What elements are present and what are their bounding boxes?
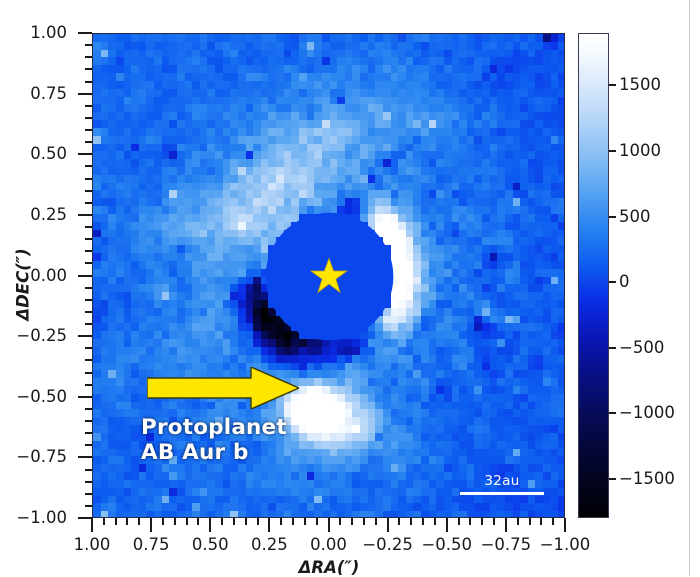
y-tick-label: −0.50 [0, 389, 67, 406]
y-axis-title: ΔDEC(″) [14, 225, 33, 345]
x-tick-minor [292, 518, 294, 525]
x-tick-minor [434, 518, 436, 525]
colorbar-tick-label: 0 [619, 274, 630, 291]
right-edge-rule [689, 0, 690, 576]
colorbar-gradient [578, 33, 609, 518]
y-tick-minor [85, 165, 92, 167]
colorbar-tick [609, 347, 616, 349]
x-tick-minor [363, 518, 365, 525]
y-tick-minor [85, 44, 92, 46]
x-tick-minor [221, 518, 223, 525]
x-tick-minor [351, 518, 353, 525]
y-tick-minor [85, 493, 92, 495]
colorbar-tick-label: −1000 [619, 405, 675, 422]
x-tick-minor [245, 518, 247, 525]
x-tick-major [328, 518, 330, 532]
x-tick-major [564, 518, 566, 532]
y-tick-label: 0.50 [0, 146, 67, 163]
x-tick-minor [410, 518, 412, 525]
y-tick-label: 0.00 [0, 267, 67, 284]
y-tick-minor [85, 359, 92, 361]
x-tick-major [505, 518, 507, 532]
protoplanet-label-line-2: AB Aur b [141, 441, 287, 466]
x-tick-minor [162, 518, 164, 525]
y-tick-label: −1.00 [0, 510, 67, 527]
y-tick-major [78, 32, 92, 34]
y-tick-minor [85, 469, 92, 471]
colorbar-tick [609, 281, 616, 283]
colorbar-tick-label: 500 [619, 208, 651, 225]
y-tick-minor [85, 105, 92, 107]
x-tick-minor [517, 518, 519, 525]
x-tick-minor [103, 518, 105, 525]
y-tick-minor [85, 190, 92, 192]
y-tick-minor [85, 262, 92, 264]
annotation-arrow-icon [147, 367, 299, 409]
x-tick-minor [138, 518, 140, 525]
y-tick-minor [85, 226, 92, 228]
x-tick-minor [115, 518, 117, 525]
x-tick-major [268, 518, 270, 532]
y-tick-major [78, 153, 92, 155]
x-tick-minor [197, 518, 199, 525]
x-tick-minor [174, 518, 176, 525]
image-plot-panel: Protoplanet AB Aur b 32au [92, 33, 565, 518]
x-tick-label: −1.00 [525, 537, 605, 554]
x-tick-minor [186, 518, 188, 525]
y-tick-minor [85, 68, 92, 70]
y-tick-label: 0.25 [0, 207, 67, 224]
y-tick-label: 1.00 [0, 25, 67, 42]
x-tick-minor [280, 518, 282, 525]
y-tick-minor [85, 347, 92, 349]
scalebar-label: 32au [460, 475, 544, 489]
x-tick-minor [529, 518, 531, 525]
y-tick-major [78, 517, 92, 519]
x-tick-minor [552, 518, 554, 525]
colorbar-tick [609, 412, 616, 414]
x-tick-minor [339, 518, 341, 525]
y-tick-minor [85, 505, 92, 507]
scalebar-line [460, 492, 544, 495]
y-tick-minor [85, 299, 92, 301]
x-tick-major [387, 518, 389, 532]
x-tick-minor [316, 518, 318, 525]
x-tick-minor [375, 518, 377, 525]
protoplanet-label-line-1: Protoplanet [141, 416, 287, 441]
y-tick-minor [85, 202, 92, 204]
colorbar-tick [609, 150, 616, 152]
x-tick-major [446, 518, 448, 532]
y-tick-minor [85, 238, 92, 240]
colorbar-tick-label: 1500 [619, 77, 661, 94]
y-tick-minor [85, 384, 92, 386]
y-tick-major [78, 214, 92, 216]
y-tick-minor [85, 129, 92, 131]
x-tick-minor [233, 518, 235, 525]
y-tick-major [78, 335, 92, 337]
y-tick-minor [85, 323, 92, 325]
x-tick-major [209, 518, 211, 532]
y-tick-major [78, 275, 92, 277]
colorbar [578, 33, 609, 518]
y-tick-minor [85, 420, 92, 422]
y-tick-minor [85, 372, 92, 374]
y-tick-label: −0.25 [0, 328, 67, 345]
y-tick-major [78, 396, 92, 398]
x-tick-minor [458, 518, 460, 525]
colorbar-tick [609, 84, 616, 86]
y-tick-minor [85, 56, 92, 58]
y-tick-minor [85, 178, 92, 180]
y-tick-minor [85, 481, 92, 483]
protoplanet-annotation-label: Protoplanet AB Aur b [141, 416, 287, 466]
y-tick-minor [85, 250, 92, 252]
y-tick-label: 0.75 [0, 85, 67, 102]
x-tick-minor [540, 518, 542, 525]
x-tick-minor [257, 518, 259, 525]
y-tick-minor [85, 287, 92, 289]
scalebar: 32au [460, 475, 544, 496]
y-tick-label: −0.75 [0, 449, 67, 466]
y-tick-minor [85, 444, 92, 446]
y-tick-minor [85, 117, 92, 119]
y-tick-minor [85, 432, 92, 434]
y-tick-major [78, 456, 92, 458]
colorbar-tick-label: −1500 [619, 470, 675, 487]
y-tick-minor [85, 141, 92, 143]
y-tick-major [78, 93, 92, 95]
x-axis-title: ΔRA(″) [0, 558, 658, 577]
y-tick-minor [85, 408, 92, 410]
colorbar-tick [609, 478, 616, 480]
x-tick-minor [469, 518, 471, 525]
colorbar-tick-label: 1000 [619, 143, 661, 160]
x-tick-minor [481, 518, 483, 525]
colorbar-tick [609, 216, 616, 218]
x-tick-minor [398, 518, 400, 525]
x-tick-minor [422, 518, 424, 525]
x-tick-major [150, 518, 152, 532]
y-tick-minor [85, 311, 92, 313]
y-tick-minor [85, 81, 92, 83]
colorbar-tick-label: −500 [619, 339, 664, 356]
x-tick-major [91, 518, 93, 532]
x-tick-minor [126, 518, 128, 525]
central-star-icon [310, 257, 348, 295]
x-tick-minor [304, 518, 306, 525]
figure-astronomical-image: Protoplanet AB Aur b 32au 1.000.750.500.… [0, 0, 700, 576]
x-tick-minor [493, 518, 495, 525]
